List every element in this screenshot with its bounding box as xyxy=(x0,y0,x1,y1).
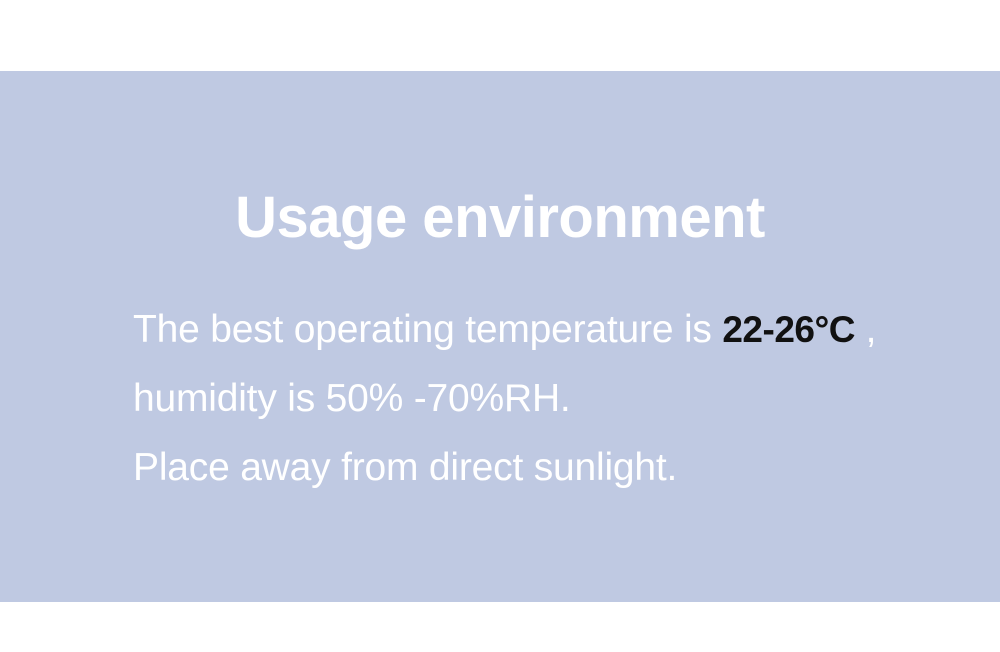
temperature-range-emphasis: 22-26°C xyxy=(722,309,855,350)
usage-environment-text-block: The best operating temperature is 22-26°… xyxy=(133,295,953,502)
usage-environment-panel: Usage environment The best operating tem… xyxy=(0,71,1000,602)
bottom-white-margin xyxy=(0,602,1000,652)
body-line-prefix: Place away from direct sunlight. xyxy=(133,446,677,489)
page-title: Usage environment xyxy=(0,185,1000,251)
product-info-page: Usage environment The best operating tem… xyxy=(0,0,1000,652)
body-line: The best operating temperature is 22-26°… xyxy=(133,295,953,364)
body-line: humidity is 50% -70%RH. xyxy=(133,364,953,433)
body-line-suffix: , xyxy=(855,308,876,351)
body-line-prefix: The best operating temperature is xyxy=(133,308,722,351)
top-white-margin xyxy=(0,0,1000,71)
body-line: Place away from direct sunlight. xyxy=(133,433,953,502)
body-line-prefix: humidity is 50% -70%RH. xyxy=(133,377,571,420)
